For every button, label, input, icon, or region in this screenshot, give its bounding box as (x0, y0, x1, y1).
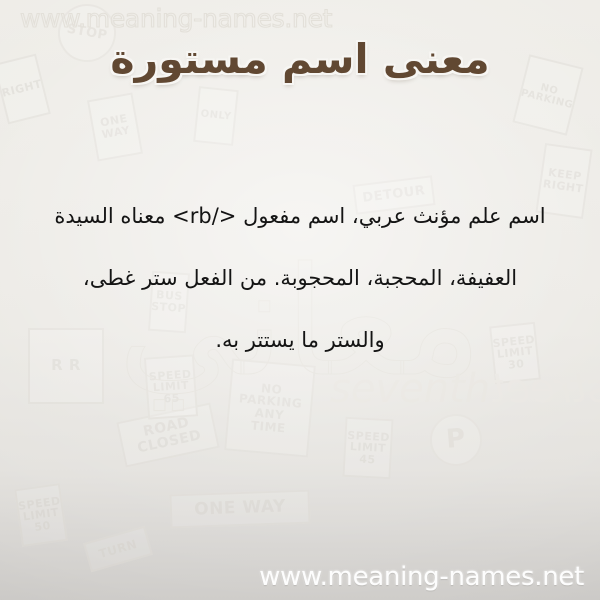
name-meaning-line: العفيفة، المحجبة، المحجوبة. من الفعل ستر… (40, 258, 560, 320)
name-meaning-line: والستر ما يستتر به. (40, 320, 560, 382)
name-meaning-line: اسم علم مؤنث عربي، اسم مفعول </rb> معناه… (40, 196, 560, 258)
screenshot-canvas: ONEWAYONE WAYROADCLOSEDNOPARKINGANYTIMES… (0, 0, 600, 600)
name-meaning-text: اسم علم مؤنث عربي، اسم مفعول </rb> معناه… (40, 196, 560, 382)
